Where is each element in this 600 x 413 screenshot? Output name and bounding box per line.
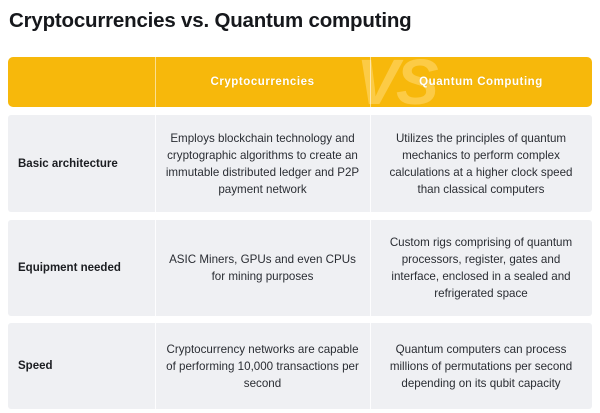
row-label-basic-architecture: Basic architecture — [18, 156, 118, 172]
comparison-page: Cryptocurrencies vs. Quantum computing V… — [0, 0, 600, 413]
row-cell-cryptocurrencies: ASIC Miners, GPUs and even CPUs for mini… — [155, 220, 370, 316]
cell-text-qc-equipment-needed: Custom rigs comprising of quantum proces… — [380, 234, 582, 302]
table-row: Speed Cryptocurrency networks are capabl… — [8, 323, 592, 409]
cell-text-crypto-equipment-needed: ASIC Miners, GPUs and even CPUs for mini… — [165, 251, 360, 285]
row-cell-cryptocurrencies: Employs blockchain technology and crypto… — [155, 115, 370, 212]
header-cell-blank — [8, 57, 155, 107]
page-title: Cryptocurrencies vs. Quantum computing — [9, 4, 589, 38]
row-label-speed: Speed — [18, 358, 53, 374]
cell-text-crypto-speed: Cryptocurrency networks are capable of p… — [165, 341, 360, 392]
row-cell-cryptocurrencies: Cryptocurrency networks are capable of p… — [155, 323, 370, 409]
row-cell-quantum-computing: Utilizes the principles of quantum mecha… — [370, 115, 592, 212]
row-label-equipment-needed: Equipment needed — [18, 260, 121, 276]
row-cell-quantum-computing: Custom rigs comprising of quantum proces… — [370, 220, 592, 316]
cell-text-qc-speed: Quantum computers can process millions o… — [380, 341, 582, 392]
cell-text-crypto-basic-architecture: Employs blockchain technology and crypto… — [165, 130, 360, 198]
row-label-cell: Basic architecture — [8, 115, 155, 212]
header-cell-quantum-computing: Quantum Computing — [370, 57, 592, 107]
comparison-table: VS Cryptocurrencies Quantum Computing Ba… — [8, 57, 592, 409]
cell-text-qc-basic-architecture: Utilizes the principles of quantum mecha… — [380, 130, 582, 198]
table-row: Basic architecture Employs blockchain te… — [8, 115, 592, 212]
row-label-cell: Equipment needed — [8, 220, 155, 316]
table-row: Equipment needed ASIC Miners, GPUs and e… — [8, 220, 592, 316]
header-cell-cryptocurrencies: Cryptocurrencies — [155, 57, 370, 107]
table-header-row: VS Cryptocurrencies Quantum Computing — [8, 57, 592, 107]
row-label-cell: Speed — [8, 323, 155, 409]
row-cell-quantum-computing: Quantum computers can process millions o… — [370, 323, 592, 409]
